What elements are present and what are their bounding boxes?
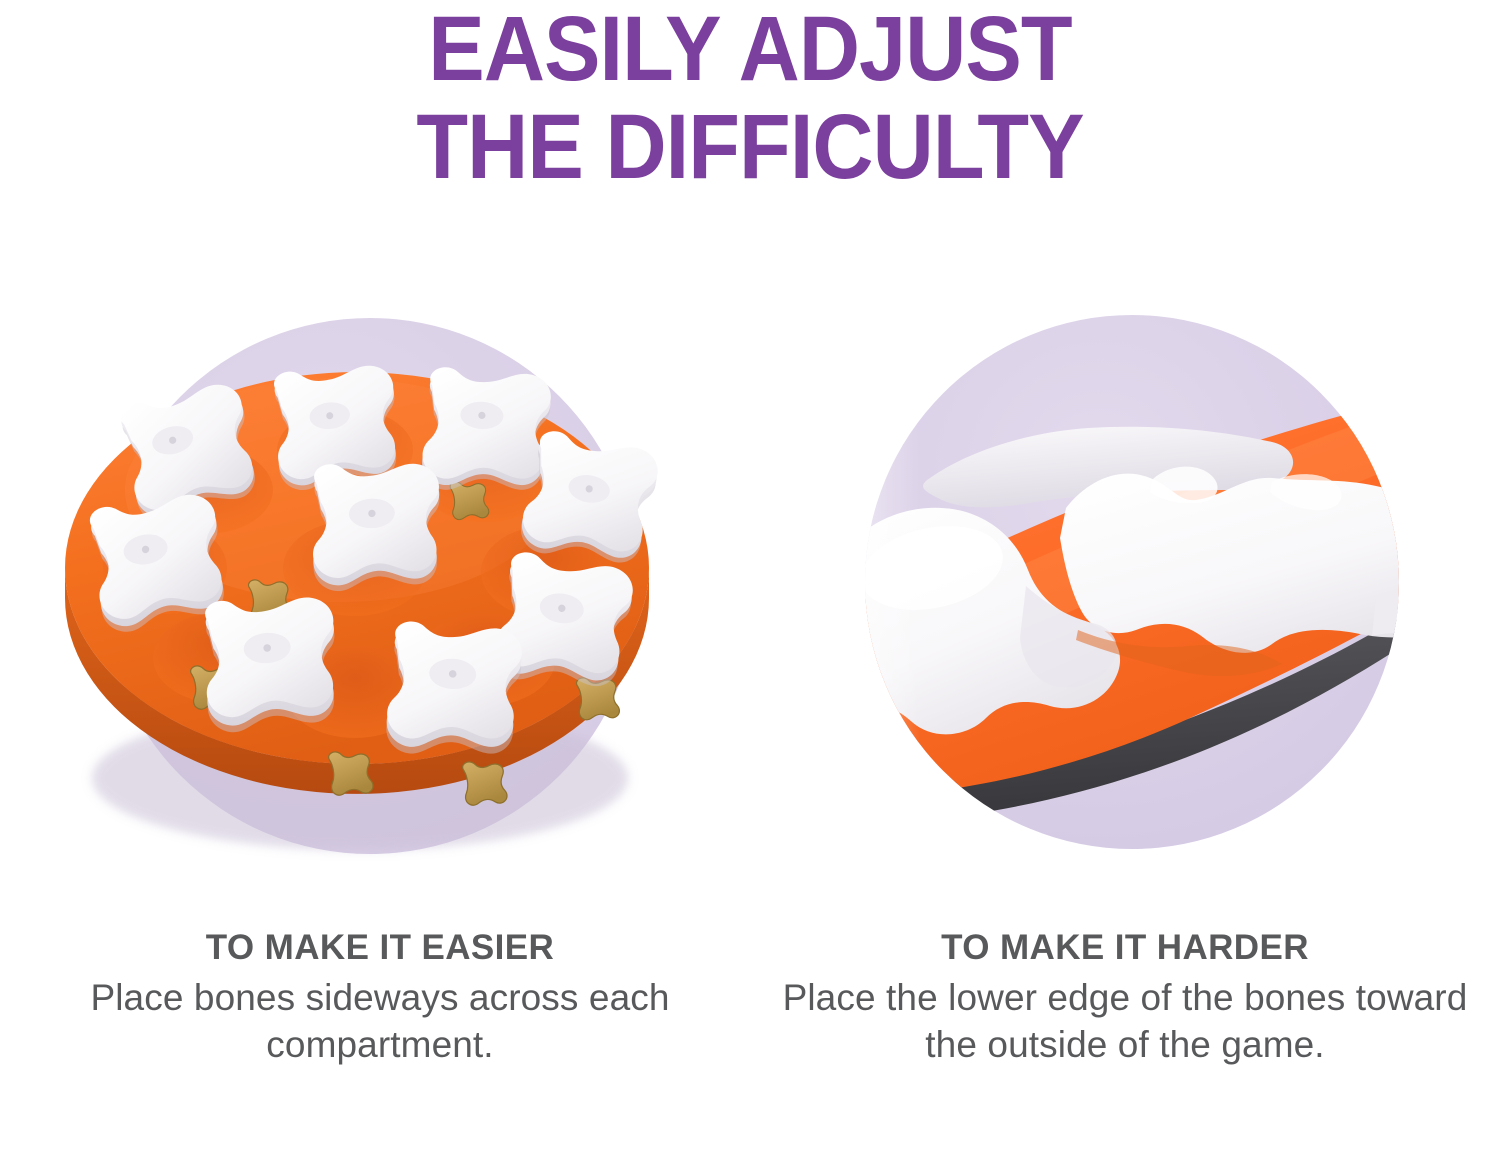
treat-bone — [329, 752, 373, 795]
puzzle-top-view-illustration: Orange round dog puzzle game viewed from… — [55, 300, 715, 890]
caption-easier-body: Place bones sideways across each compart… — [30, 971, 730, 1068]
panel-easier: Orange round dog puzzle game viewed from… — [55, 300, 715, 890]
bone-slider[interactable] — [1060, 467, 1442, 653]
bone-slider — [421, 366, 552, 495]
caption-harder: TO MAKE IT HARDER Place the lower edge o… — [775, 925, 1475, 1068]
product-image-easier: Orange round dog puzzle game viewed from… — [55, 300, 715, 890]
infographic-page: EASILY ADJUST THE DIFFICULTY — [0, 0, 1500, 1157]
product-image-harder: Close-up of the edge of the orange dog p… — [820, 300, 1480, 890]
caption-harder-heading: TO MAKE IT HARDER — [775, 925, 1475, 971]
bone-slider — [200, 593, 340, 734]
bone-slider — [385, 621, 523, 760]
puzzle-closeup-illustration: Close-up of the edge of the orange dog p… — [820, 300, 1480, 890]
caption-easier: TO MAKE IT EASIER Place bones sideways a… — [30, 925, 730, 1068]
caption-easier-heading: TO MAKE IT EASIER — [30, 925, 730, 971]
treat-bone — [463, 762, 507, 805]
caption-harder-body: Place the lower edge of the bones toward… — [775, 971, 1475, 1068]
panel-harder: Close-up of the edge of the orange dog p… — [820, 300, 1480, 890]
left-edge-fade — [820, 300, 920, 890]
bone-slider — [310, 460, 443, 592]
